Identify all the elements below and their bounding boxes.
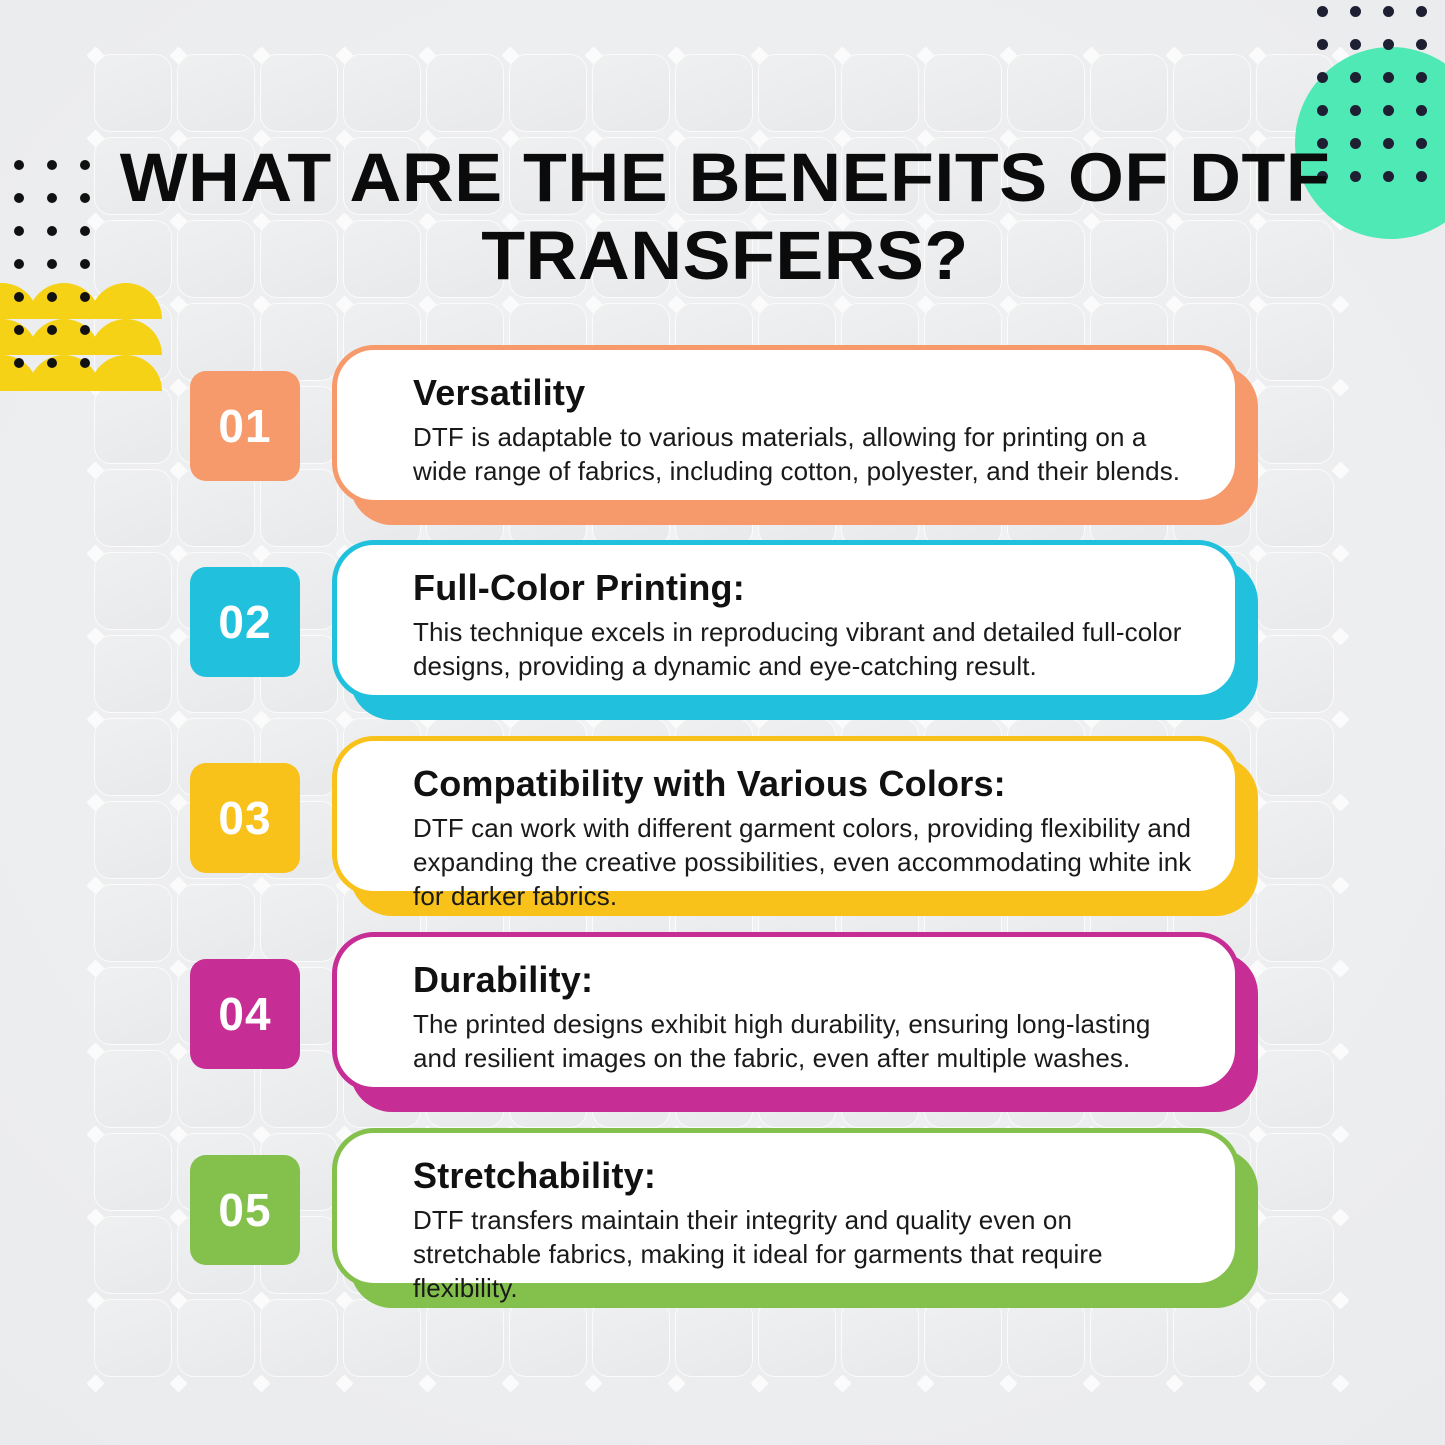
benefit-description: This technique excels in reproducing vib… xyxy=(413,615,1201,683)
card-body: VersatilityDTF is adaptable to various m… xyxy=(332,345,1240,505)
benefit-description: DTF is adaptable to various materials, a… xyxy=(413,420,1201,488)
benefit-title: Full-Color Printing: xyxy=(413,567,1201,609)
benefit-number-badge: 01 xyxy=(190,371,300,481)
benefit-description: DTF transfers maintain their integrity a… xyxy=(413,1203,1201,1305)
card-body: Compatibility with Various Colors:DTF ca… xyxy=(332,736,1240,896)
benefit-title: Versatility xyxy=(413,372,1201,414)
card-body: Durability:The printed designs exhibit h… xyxy=(332,932,1240,1092)
infographic-poster: WHAT ARE THE BENEFITS OF DTF TRANSFERS? … xyxy=(0,0,1445,1445)
benefit-number-badge: 04 xyxy=(190,959,300,1069)
card-body: Stretchability:DTF transfers maintain th… xyxy=(332,1128,1240,1288)
benefit-number-badge: 02 xyxy=(190,567,300,677)
benefit-card[interactable]: VersatilityDTF is adaptable to various m… xyxy=(332,345,1258,529)
card-body: Full-Color Printing:This technique excel… xyxy=(332,540,1240,700)
benefit-card[interactable]: Durability:The printed designs exhibit h… xyxy=(332,932,1258,1116)
benefit-number-badge: 05 xyxy=(190,1155,300,1265)
benefit-card[interactable]: Compatibility with Various Colors:DTF ca… xyxy=(332,736,1258,920)
benefits-list: 01VersatilityDTF is adaptable to various… xyxy=(0,0,1445,1445)
benefit-title: Durability: xyxy=(413,959,1201,1001)
benefit-description: The printed designs exhibit high durabil… xyxy=(413,1007,1201,1075)
benefit-card[interactable]: Stretchability:DTF transfers maintain th… xyxy=(332,1128,1258,1312)
benefit-number-badge: 03 xyxy=(190,763,300,873)
benefit-description: DTF can work with different garment colo… xyxy=(413,811,1201,913)
benefit-title: Stretchability: xyxy=(413,1155,1201,1197)
benefit-title: Compatibility with Various Colors: xyxy=(413,763,1201,805)
benefit-card[interactable]: Full-Color Printing:This technique excel… xyxy=(332,540,1258,724)
